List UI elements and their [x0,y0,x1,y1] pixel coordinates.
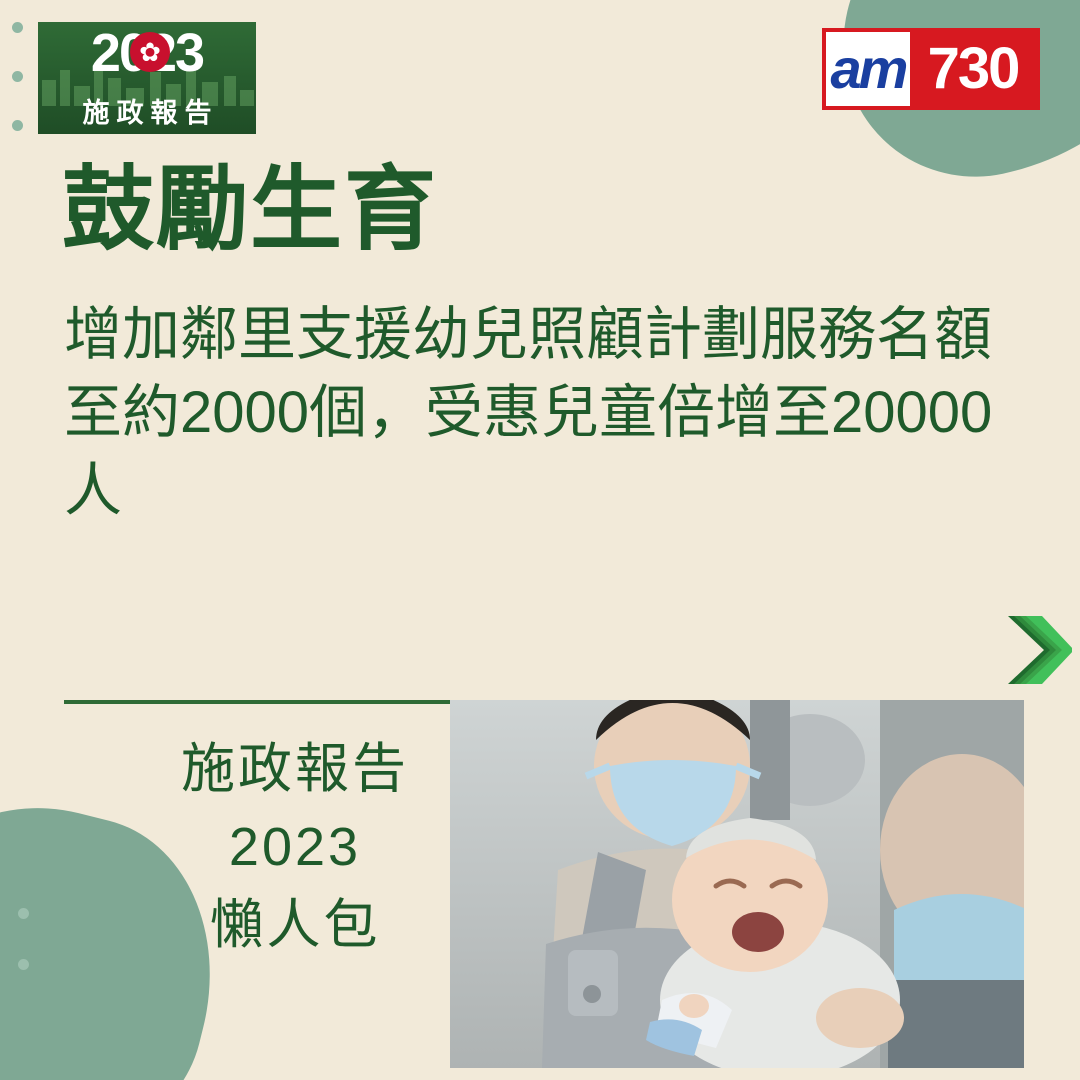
dot [12,120,23,131]
body-paragraph: 增加鄰里支援幼兒照顧計劃服務名額至約2000個，受惠兒童倍增至20000人 [64,296,1044,530]
am730-prefix: am [826,32,910,106]
decorative-dots-left-lower [18,908,29,970]
infographic-canvas: 2023 ✿ 施政報告 am 730 鼓勵生育 增加鄰里支援幼兒照顧計劃服務名額… [0,0,1080,1080]
footer-line-2: 2023 [150,808,440,886]
dot [12,71,23,82]
photo-illustration [450,700,1024,1068]
am730-number: 730 [910,32,1036,106]
mother-carrying-crying-baby-photo [450,700,1024,1068]
decorative-dots-left [12,22,23,131]
footer-line-3: 懶人包 [150,886,440,964]
footer-caption: 施政報告 2023 懶人包 [150,730,440,964]
dot [18,959,29,970]
am730-logo: am 730 [822,28,1040,110]
footer-line-1: 施政報告 [150,730,440,808]
page-title: 鼓勵生育 [62,158,438,262]
bauhinia-flower-icon: ✿ [130,32,170,72]
dot [18,908,29,919]
logo-subtitle: 施政報告 [38,91,256,130]
dot [12,22,23,33]
policy-address-logo: 2023 ✿ 施政報告 [38,22,256,134]
